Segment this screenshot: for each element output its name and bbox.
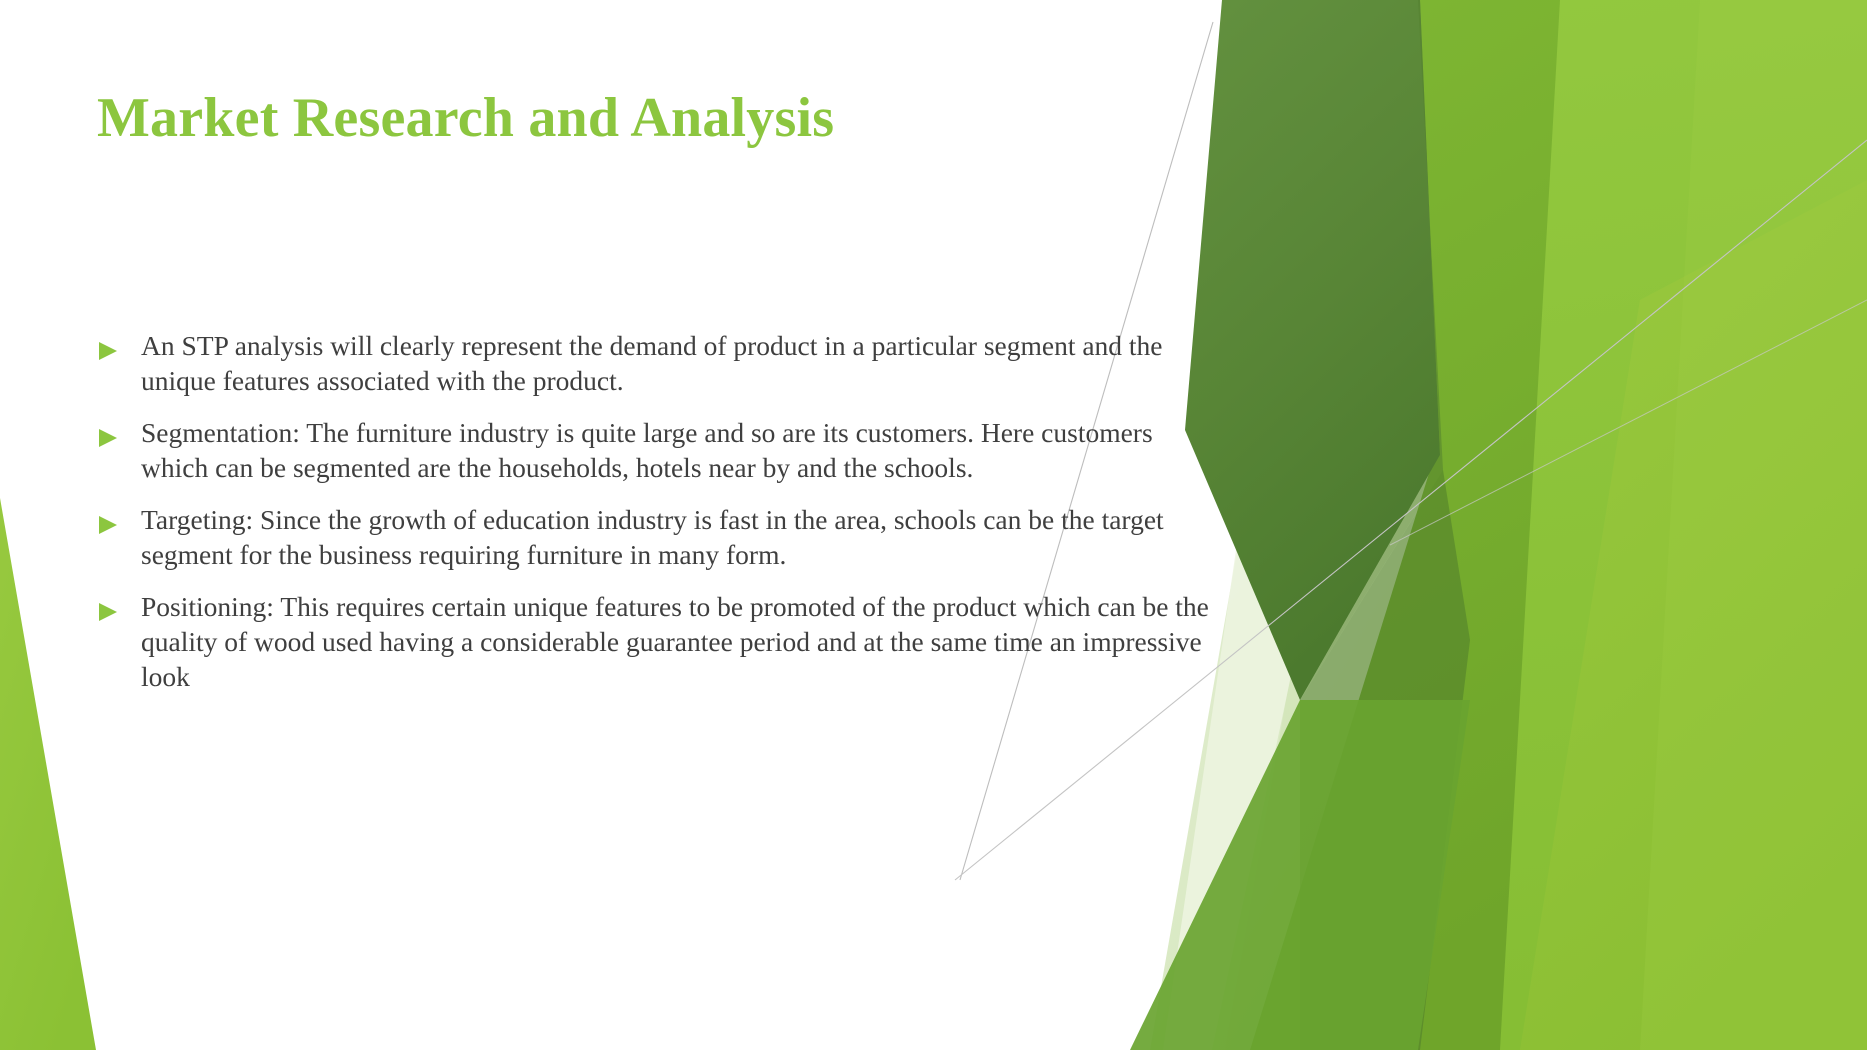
list-item-text: An STP analysis will clearly represent t… (141, 328, 1212, 398)
triangle-right-icon (97, 415, 141, 448)
list-item: Positioning: This requires certain uniqu… (97, 589, 1212, 694)
presentation-slide: Market Research and Analysis An STP anal… (0, 0, 1867, 1050)
list-item: Segmentation: The furniture industry is … (97, 415, 1212, 485)
list-item: An STP analysis will clearly represent t… (97, 328, 1212, 398)
triangle-right-icon (97, 589, 141, 622)
triangle-right-icon (97, 328, 141, 361)
list-item: Targeting: Since the growth of education… (97, 502, 1212, 572)
slide-title: Market Research and Analysis (97, 86, 1157, 150)
triangle-right-icon (97, 502, 141, 535)
list-item-text: Positioning: This requires certain uniqu… (141, 589, 1212, 694)
list-item-text: Targeting: Since the growth of education… (141, 502, 1212, 572)
slide-body-content: An STP analysis will clearly represent t… (97, 328, 1212, 694)
list-item-text: Segmentation: The furniture industry is … (141, 415, 1212, 485)
